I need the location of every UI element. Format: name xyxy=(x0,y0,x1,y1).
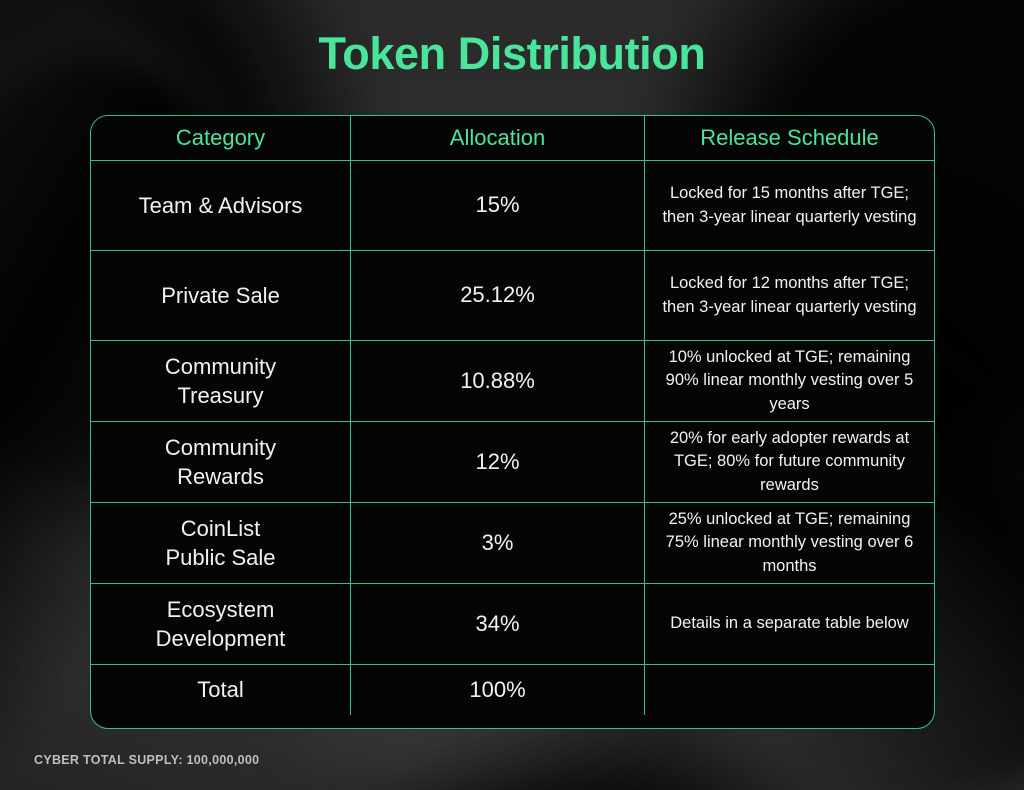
table-row: Private Sale 25.12% Locked for 12 months… xyxy=(91,251,934,341)
cell-allocation: 25.12% xyxy=(351,251,645,340)
table-row: Community Rewards 12% 20% for early adop… xyxy=(91,422,934,503)
cell-allocation: 3% xyxy=(351,503,645,583)
table-row: Ecosystem Development 34% Details in a s… xyxy=(91,584,934,665)
cell-category: Team & Advisors xyxy=(91,161,351,250)
cell-release: Details in a separate table below xyxy=(645,584,934,664)
cell-allocation: 100% xyxy=(351,665,645,715)
cell-category: Community Treasury xyxy=(91,341,351,421)
cell-allocation: 15% xyxy=(351,161,645,250)
cell-release: 25% unlocked at TGE; remaining 75% linea… xyxy=(645,503,934,583)
column-header-allocation: Allocation xyxy=(351,116,645,160)
table-header-row: Category Allocation Release Schedule xyxy=(91,116,934,161)
column-header-category: Category xyxy=(91,116,351,160)
cell-allocation: 12% xyxy=(351,422,645,502)
page-title: Token Distribution xyxy=(0,28,1024,80)
table-row: Community Treasury 10.88% 10% unlocked a… xyxy=(91,341,934,422)
token-distribution-table: Category Allocation Release Schedule Tea… xyxy=(90,115,935,729)
cell-release: Locked for 15 months after TGE; then 3-y… xyxy=(645,161,934,250)
total-supply-note: CYBER TOTAL SUPPLY: 100,000,000 xyxy=(34,753,259,767)
cell-release: Locked for 12 months after TGE; then 3-y… xyxy=(645,251,934,340)
cell-category: Private Sale xyxy=(91,251,351,340)
column-header-release-schedule: Release Schedule xyxy=(645,116,934,160)
cell-allocation: 10.88% xyxy=(351,341,645,421)
table-row: CoinList Public Sale 3% 25% unlocked at … xyxy=(91,503,934,584)
table-row: Team & Advisors 15% Locked for 15 months… xyxy=(91,161,934,251)
cell-category: CoinList Public Sale xyxy=(91,503,351,583)
cell-release: 20% for early adopter rewards at TGE; 80… xyxy=(645,422,934,502)
cell-category: Total xyxy=(91,665,351,715)
cell-category: Ecosystem Development xyxy=(91,584,351,664)
cell-release xyxy=(645,665,934,715)
cell-allocation: 34% xyxy=(351,584,645,664)
table-row-total: Total 100% xyxy=(91,665,934,715)
cell-release: 10% unlocked at TGE; remaining 90% linea… xyxy=(645,341,934,421)
slide-canvas: Token Distribution Category Allocation R… xyxy=(0,0,1024,790)
cell-category: Community Rewards xyxy=(91,422,351,502)
